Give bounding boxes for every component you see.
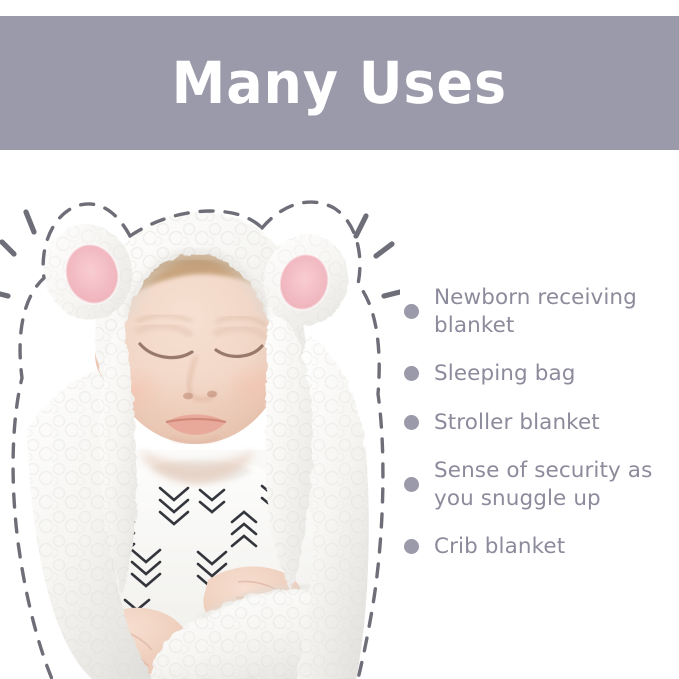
product-feature-page: Many Uses bbox=[0, 0, 679, 679]
bullet-icon bbox=[404, 477, 419, 492]
list-item-label: Newborn receiving blanket bbox=[434, 284, 666, 339]
list-item: Sleeping bag bbox=[404, 360, 666, 388]
header-banner: Many Uses bbox=[0, 16, 679, 150]
bullet-icon bbox=[404, 366, 419, 381]
list-item: Stroller blanket bbox=[404, 409, 666, 437]
list-item: Crib blanket bbox=[404, 533, 666, 561]
product-photo bbox=[0, 150, 400, 679]
bullet-icon bbox=[404, 539, 419, 554]
page-title: Many Uses bbox=[172, 54, 507, 112]
list-item: Newborn receiving blanket bbox=[404, 284, 666, 339]
list-item-label: Sense of security as you snuggle up bbox=[434, 457, 666, 512]
bullet-icon bbox=[404, 415, 419, 430]
uses-list: Newborn receiving blanket Sleeping bag S… bbox=[404, 284, 666, 582]
list-item-label: Crib blanket bbox=[434, 533, 565, 561]
list-item-label: Sleeping bag bbox=[434, 360, 575, 388]
list-item: Sense of security as you snuggle up bbox=[404, 457, 666, 512]
baby-blanket-illustration bbox=[0, 150, 400, 679]
bullet-icon bbox=[404, 304, 419, 319]
list-item-label: Stroller blanket bbox=[434, 409, 600, 437]
